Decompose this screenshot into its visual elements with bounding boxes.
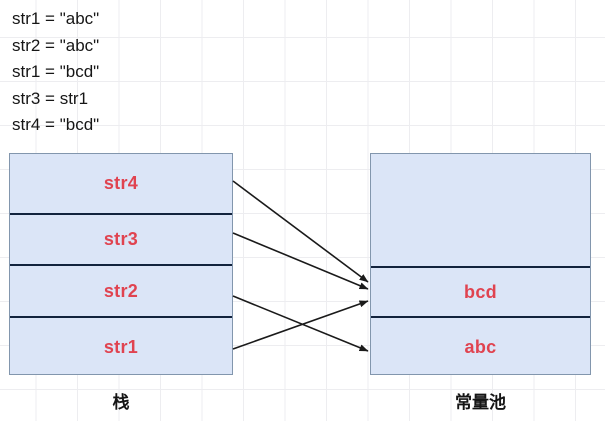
code-listing: str1 = "abc" str2 = "abc" str1 = "bcd" s…: [12, 6, 242, 139]
arrow-str4-to-bcd: [233, 181, 368, 282]
diagram-canvas: str1 = "abc" str2 = "abc" str1 = "bcd" s…: [0, 0, 605, 421]
stack-cell-label: str4: [104, 173, 138, 194]
code-line-4: str3 = str1: [12, 86, 242, 113]
constant-pool-box: bcd abc: [370, 153, 591, 375]
code-line-2: str2 = "abc": [12, 33, 242, 60]
arrow-str1-to-bcd: [233, 301, 368, 349]
code-line-3: str1 = "bcd": [12, 59, 242, 86]
stack-cell-str2: str2: [10, 264, 232, 316]
stack-cell-str3: str3: [10, 213, 232, 264]
stack-cell-label: str1: [104, 337, 138, 358]
stack-cell-label: str3: [104, 229, 138, 250]
pool-cell-empty: [371, 154, 590, 266]
pool-cell-bcd: bcd: [371, 266, 590, 316]
stack-caption: 栈: [9, 388, 233, 413]
pool-cell-label: abc: [465, 337, 497, 358]
stack-cell-str1: str1: [10, 316, 232, 376]
code-line-5: str4 = "bcd": [12, 112, 242, 139]
stack-cell-label: str2: [104, 281, 138, 302]
arrow-str3-to-bcd: [233, 233, 368, 289]
pool-cell-label: bcd: [464, 282, 497, 303]
stack-cell-str4: str4: [10, 154, 232, 213]
reference-arrows: [233, 181, 368, 351]
pool-cell-abc: abc: [371, 316, 590, 376]
constant-pool-caption: 常量池: [370, 388, 591, 413]
code-line-1: str1 = "abc": [12, 6, 242, 33]
stack-box: str4 str3 str2 str1: [9, 153, 233, 375]
arrow-str2-to-abc: [233, 296, 368, 351]
